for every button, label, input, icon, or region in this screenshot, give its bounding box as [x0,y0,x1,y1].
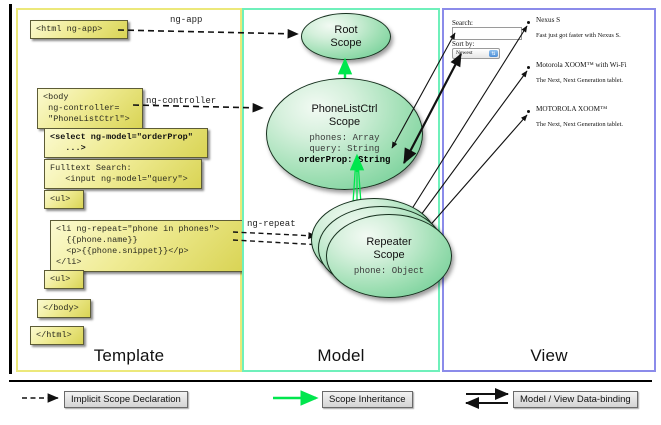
panel-label-view: View [444,346,654,366]
scope-phonelistctrl-title-line2: Scope [329,116,360,129]
scope-root-ellipse: Root Scope [301,13,391,60]
scope-phonelistctrl-ellipse: PhoneListCtrl Scope phones: Array query:… [266,78,423,190]
diagram-canvas: Template <html ng-app> <body ng-controll… [0,0,661,425]
code-box-input-search: Fulltext Search: <input ng-model="query"… [44,159,202,189]
panel-label-template: Template [18,346,240,366]
view-phone-name[interactable]: MOTOROLA XOOM™ [536,105,607,113]
code-box-body-close: </body> [37,299,91,318]
view-search-input[interactable] [452,27,522,40]
legend-label-model-view-data-binding: Model / View Data-binding [513,391,638,408]
list-bullet [527,110,530,113]
list-bullet [527,21,530,24]
view-sort-label: Sort by: [452,40,474,48]
scope-phonelistctrl-title-line1: PhoneListCtrl [311,103,377,116]
edge-label-ng-controller: ng-controller [146,96,216,106]
code-box-li-repeat: <li ng-repeat="phone in phones"> {{phone… [50,220,243,272]
figure-left-rule [9,4,12,374]
scope-repeater-ellipse: Repeater Scope phone: Object [326,214,452,298]
scope-root-title-line2: Scope [330,37,361,50]
edge-label-ng-app: ng-app [170,15,202,25]
code-box-html-open: <html ng-app> [30,20,128,39]
scope-root-title-line1: Root [334,24,357,37]
panel-label-model: Model [244,346,438,366]
scope-phonelistctrl-props: phones: Array query: String orderProp: S… [299,133,391,166]
code-box-ul-open: <ul> [44,190,84,209]
code-box-html-close: </html> [30,326,84,345]
legend-label-scope-inheritance: Scope Inheritance [322,391,413,408]
scope-repeater-title-line1: Repeater [366,236,411,249]
view-phone-snippet: The Next, Next Generation tablet. [536,77,623,84]
code-box-select: <select ng-model="orderProp" ...> [44,128,208,158]
legend-label-implicit-scope-declaration: Implicit Scope Declaration [64,391,188,408]
view-sort-select[interactable]: Newest ⇅ [452,48,500,59]
view-search-label: Search: [452,19,473,27]
view-phone-snippet: The Next, Next Generation tablet. [536,121,623,128]
view-phone-name[interactable]: Motorola XOOM™ with Wi-Fi [536,61,627,69]
scope-repeater-title-line2: Scope [373,249,404,262]
view-sort-selected-value: Newest [456,50,473,56]
view-phone-name[interactable]: Nexus S [536,16,560,24]
scope-phonelistctrl-props-plain: phones: Array query: String [309,133,379,154]
scope-phonelistctrl-props-bold: orderProp: String [299,155,391,165]
chevron-updown-icon: ⇅ [489,50,498,57]
list-bullet [527,66,530,69]
figure-bottom-rule [9,380,652,382]
panel-model: Model [242,8,440,372]
code-box-body-open: <body ng-controller= "PhoneListCtrl"> [37,88,143,129]
view-phone-snippet: Fast just got faster with Nexus S. [536,32,621,39]
code-box-ul-close: <ul> [44,270,84,289]
edge-label-ng-repeat: ng-repeat [247,219,296,229]
scope-repeater-props: phone: Object [354,266,424,277]
